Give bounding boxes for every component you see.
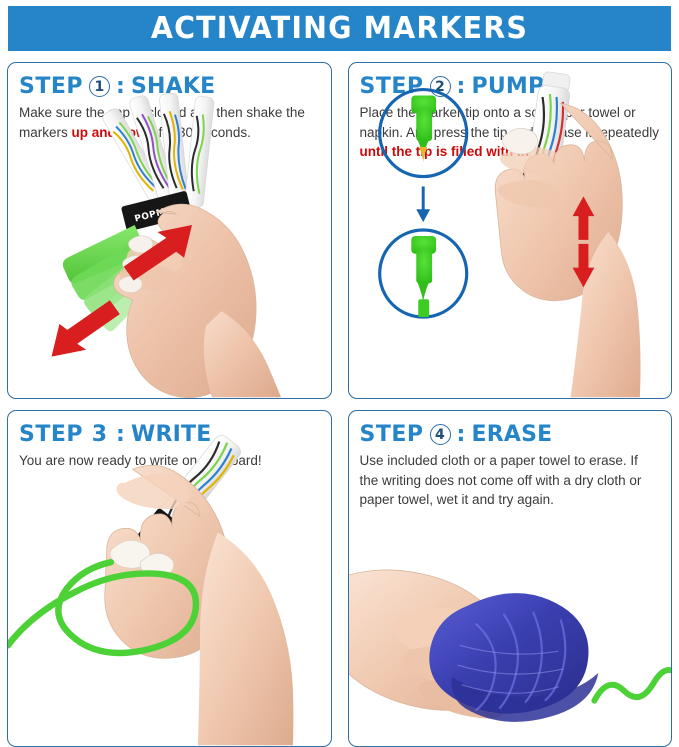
blue-arrow-down-icon (416, 186, 430, 222)
hand-holding-markers (114, 204, 281, 397)
step-2-heading: STEP 2 : PUMP (360, 74, 661, 99)
svg-text:POPMAK: POPMAK (134, 203, 182, 224)
step-4-text-a: Use included cloth or a paper towel to e… (360, 453, 642, 507)
step-4-action: ERASE (472, 422, 553, 447)
step-1-text-b: for 30 seconds. (155, 125, 251, 140)
hand-with-cloth (349, 570, 516, 719)
step-1-body: Make sure the cap is closed and then sha… (19, 103, 320, 142)
microfiber-cloth (429, 593, 598, 722)
steps-grid: STEP 1 : SHAKE Make sure the cap is clos… (7, 62, 672, 747)
step-4-separator: : (457, 422, 466, 447)
step-3-separator: : (116, 422, 125, 447)
svg-text:POPMAK: POPMAK (528, 175, 545, 230)
step-4-number: 4 (430, 424, 451, 445)
step-1-separator: : (116, 74, 125, 99)
step-4-heading: STEP 4 : ERASE (360, 422, 661, 447)
hand-writing (105, 465, 294, 745)
step-1-label: STEP (19, 74, 83, 99)
step-card-2: STEP 2 : PUMP Place the marker tip onto … (348, 62, 673, 399)
red-arrow-up-icon (572, 196, 594, 240)
step-1-heading: STEP 1 : SHAKE (19, 74, 320, 99)
red-arrow-down-icon (572, 244, 594, 288)
step-2-text-a: Place the marker tip onto a soft paper t… (360, 105, 659, 140)
step-card-1: STEP 1 : SHAKE Make sure the cap is clos… (7, 62, 332, 399)
green-ink-stroke (8, 562, 196, 653)
step-2-action: PUMP (472, 74, 545, 99)
step-3-number: 3 (89, 424, 110, 445)
header-banner: ACTIVATING MARKERS (8, 6, 671, 51)
step-3-heading: STEP 3 : WRITE (19, 422, 320, 447)
step-card-3: STEP 3 : WRITE You are now ready to writ… (7, 410, 332, 747)
step-3-label: STEP (19, 422, 83, 447)
step-3-text-a: You are now ready to write on the board! (19, 453, 262, 468)
step-1-action: SHAKE (131, 74, 215, 99)
step-card-4: STEP 4 : ERASE Use included cloth or a p… (348, 410, 673, 747)
infographic-page: ACTIVATING MARKERS STEP 1 : SHAKE Make s… (0, 0, 679, 736)
step-2-body: Place the marker tip onto a soft paper t… (360, 103, 661, 162)
step-2-text-emphasis: until the tip is filled with ink. (360, 144, 541, 159)
page-title: ACTIVATING MARKERS (151, 11, 528, 46)
step-2-label: STEP (360, 74, 424, 99)
red-arrow-up-right-icon (124, 225, 192, 280)
marker-tip-circle-after (379, 230, 466, 317)
step-4-label: STEP (360, 422, 424, 447)
step-2-separator: : (457, 74, 466, 99)
marker-label-band: POPMAK (121, 191, 192, 232)
step-3-action: WRITE (131, 422, 211, 447)
marker-green-caps (63, 225, 160, 331)
step-2-number: 2 (430, 76, 451, 97)
green-squiggle-remnant (594, 670, 671, 701)
step-4-body: Use included cloth or a paper towel to e… (360, 451, 661, 510)
step-3-body: You are now ready to write on the board! (19, 451, 320, 471)
red-arrow-down-left-icon (52, 300, 120, 356)
step-1-number: 1 (89, 76, 110, 97)
step-1-text-emphasis: up and down (72, 125, 155, 140)
